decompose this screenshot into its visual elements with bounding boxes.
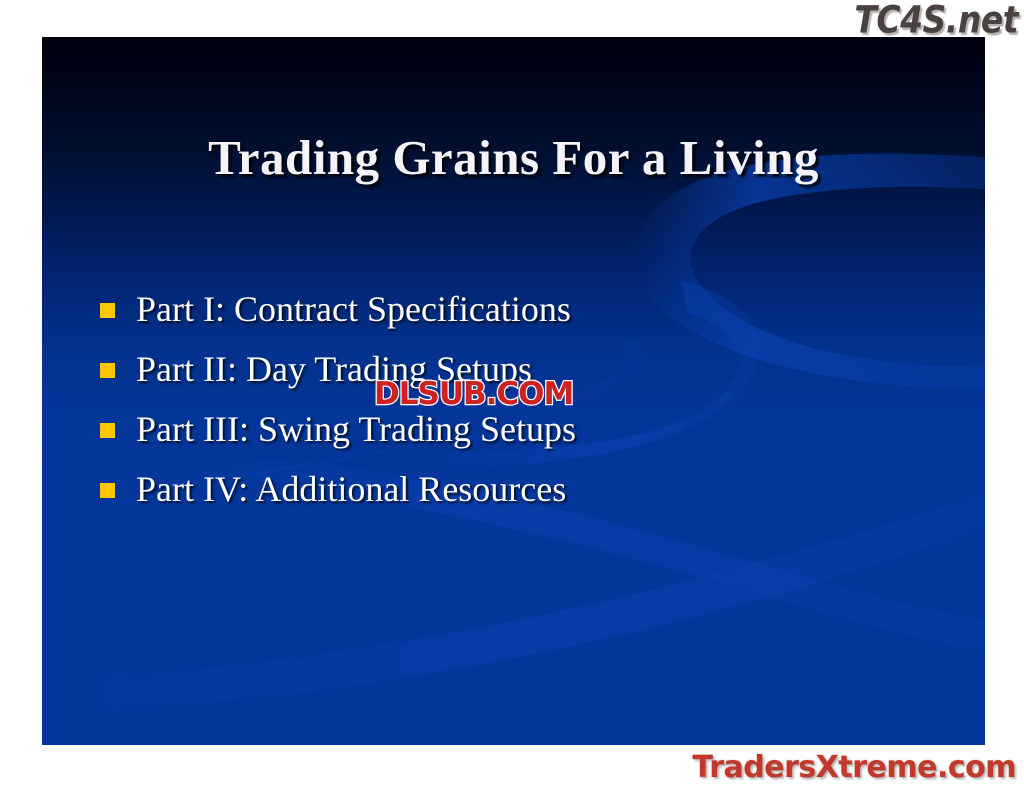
list-item[interactable]: Part IV: Additional Resources [100, 467, 960, 527]
watermark-top-right: TC4S.net [854, 0, 1018, 42]
list-item-label: Part IV: Additional Resources [136, 467, 960, 511]
bullet-square-icon [100, 303, 115, 318]
list-item-label: Part III: Swing Trading Setups [136, 407, 960, 451]
list-item[interactable]: Part III: Swing Trading Setups [100, 407, 960, 467]
page-canvas: Trading Grains For a Living Part I: Cont… [0, 0, 1024, 791]
list-item[interactable]: Part I: Contract Specifications [100, 287, 960, 347]
footer-website-url: www.tradethemarkets.com [42, 744, 985, 745]
bullet-square-icon [100, 483, 115, 498]
list-item-label: Part I: Contract Specifications [136, 287, 960, 331]
watermark-bottom-right: TradersXtreme.com [693, 750, 1016, 785]
watermark-center-overlay: DLSUB.COM [374, 376, 573, 412]
footer-page-number: 1 [862, 744, 922, 745]
bullet-square-icon [100, 363, 115, 378]
slide-title: Trading Grains For a Living [42, 129, 985, 186]
bullet-square-icon [100, 423, 115, 438]
